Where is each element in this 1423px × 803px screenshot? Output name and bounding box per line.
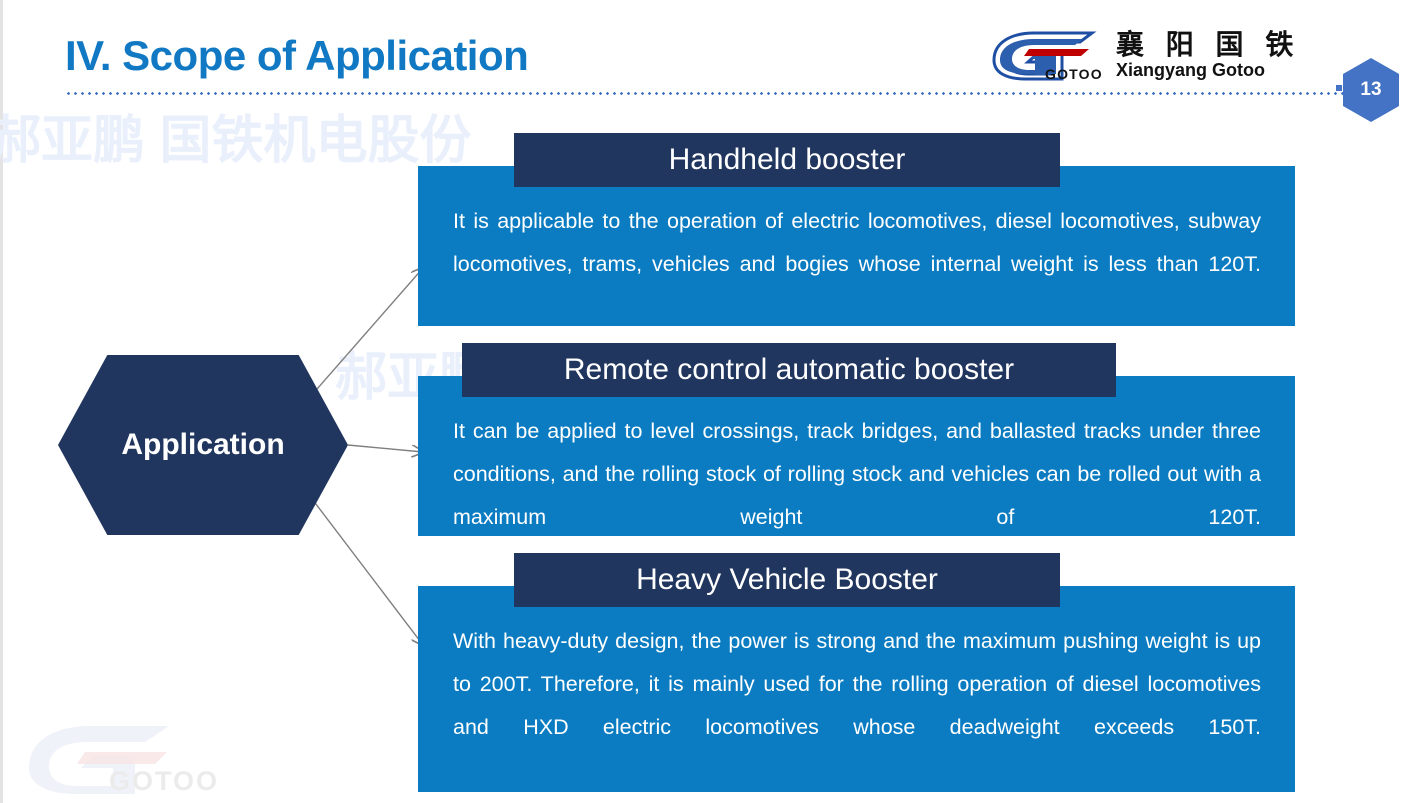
brand-logo: GOTOO 襄 阳 国 铁 Xiangyang Gotoo xyxy=(988,26,1300,84)
arrow-to-card-2 xyxy=(348,445,423,452)
diagram-root-hexagon[interactable]: Application xyxy=(58,355,348,535)
card-header-title: Heavy Vehicle Booster xyxy=(514,553,1060,607)
page-number-badge: 13 xyxy=(1341,57,1401,123)
badge-accent-dot xyxy=(1336,85,1342,91)
slide-canvas: 郝亚鹏 国铁机电股份 郝亚鹏 国铁机电股份 郝亚鹏 国铁机电股份 GOTOO I… xyxy=(0,0,1423,803)
card-description-text: It is applicable to the operation of ele… xyxy=(453,200,1261,329)
gotoo-gf-logo-icon: GOTOO xyxy=(988,29,1106,81)
diagram-root-label: Application xyxy=(121,428,284,462)
card-header-title: Remote control automatic booster xyxy=(462,343,1116,397)
brand-name-en: Xiangyang Gotoo xyxy=(1116,60,1265,80)
svg-text:GOTOO: GOTOO xyxy=(1045,66,1103,81)
arrow-to-card-3 xyxy=(303,487,423,645)
card-description-text: With heavy-duty design, the power is str… xyxy=(453,620,1261,792)
page-title: IV. Scope of Application xyxy=(65,32,528,80)
page-number-label: 13 xyxy=(1341,57,1401,123)
brand-name-cn: 襄 阳 国 铁 xyxy=(1116,30,1300,60)
title-divider xyxy=(65,92,1365,95)
arrow-to-card-1 xyxy=(303,268,423,405)
brand-name-block: 襄 阳 国 铁 Xiangyang Gotoo xyxy=(1116,30,1300,80)
card-header-title: Handheld booster xyxy=(514,133,1060,187)
